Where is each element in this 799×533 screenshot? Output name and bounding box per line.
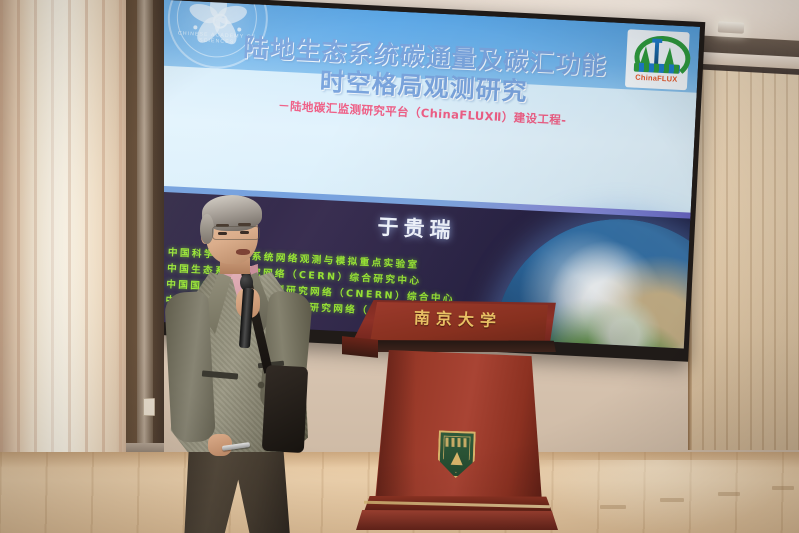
jacket-sleeve-left	[164, 291, 216, 443]
speaker-trousers	[180, 444, 292, 533]
speaker-glasses	[212, 226, 260, 240]
floor-reflection	[520, 460, 799, 533]
lectern-top-face: 南京大学	[370, 302, 548, 344]
presentation-photo: CHINESE ACADEMY OF SCIENCES ChinaFLUX 陆地…	[0, 0, 799, 533]
floor-seam	[772, 486, 794, 490]
shield-tower	[450, 452, 462, 465]
speaker-mouth	[236, 249, 250, 255]
floor-seam	[600, 505, 626, 509]
wall-outlet	[143, 398, 155, 416]
wood-wall-panel	[690, 50, 799, 450]
floor-seam	[718, 492, 740, 496]
curtain-highlight	[22, 0, 92, 503]
shoulder-bag	[262, 365, 308, 453]
shield-top-pattern	[445, 438, 468, 448]
lectern-base-lower	[354, 510, 558, 530]
jacket-button	[258, 382, 264, 388]
left-wall-metal-strip	[137, 0, 153, 452]
downlight-fixture	[718, 21, 745, 33]
speaker	[160, 196, 320, 533]
lectern-body-shading	[368, 350, 416, 502]
lectern-left-edge	[342, 336, 378, 358]
lectern: 南京大学	[346, 300, 558, 533]
lectern-inscription: 南京大学	[414, 304, 565, 334]
floor-seam	[660, 498, 684, 502]
